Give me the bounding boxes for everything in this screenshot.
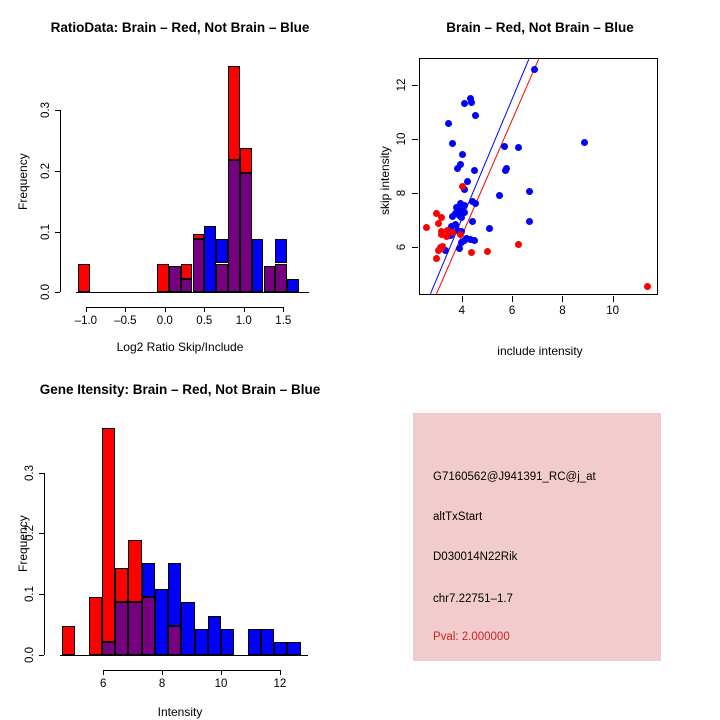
panel-intensity-scatter: Brain – Red, Not Brain – Blue 4681068101…	[360, 0, 720, 360]
regression-line-blue_fit	[429, 59, 529, 295]
histogram-bar	[195, 629, 208, 655]
scatter-point	[445, 120, 452, 127]
panel-gene-intensity-histogram: Gene Itensity: Brain – Red, Not Brain – …	[0, 360, 360, 720]
scatter-point	[472, 200, 479, 207]
x-axis-tick	[103, 670, 104, 675]
histogram-bar	[62, 626, 75, 655]
y-axis-tick	[55, 171, 60, 172]
histogram-bar-overlap	[128, 602, 141, 655]
scatter-point	[484, 248, 491, 255]
x-axis-tick	[86, 307, 87, 312]
histogram-bar	[204, 226, 216, 292]
histogram-bar	[240, 148, 252, 173]
y-axis-tick	[39, 655, 44, 656]
histogram-bar	[221, 629, 234, 655]
histogram-bar	[142, 563, 155, 597]
histogram-baseline	[60, 655, 308, 656]
histogram-bar-overlap	[142, 597, 155, 655]
x-axis-tick	[283, 307, 284, 312]
y-axis-tick-label: 12	[396, 76, 408, 94]
histogram-bar	[181, 264, 193, 279]
histogram-bar	[78, 264, 90, 292]
histogram-bar-overlap	[264, 266, 276, 292]
histogram-bar	[287, 642, 300, 655]
scatter-plot-area: 46810681012	[360, 0, 720, 360]
x-axis-tick-label: 8	[537, 305, 587, 317]
y-axis-tick-label: 6	[396, 238, 408, 256]
scatter-point	[644, 283, 651, 290]
y-axis-tick	[55, 292, 60, 293]
y-axis-tick	[55, 110, 60, 111]
y-axis-tick	[39, 533, 44, 534]
histogram-bar	[155, 589, 168, 655]
ratio-histogram-ylabel: Frequency	[16, 153, 30, 210]
histogram-bar-overlap	[193, 239, 205, 292]
y-axis-tick	[412, 247, 418, 248]
y-axis-line	[60, 110, 61, 292]
y-axis-tick	[55, 232, 60, 233]
scatter-point	[449, 213, 456, 220]
info-gene-symbol: D030014N22Rik	[433, 551, 517, 563]
x-axis-tick	[512, 296, 513, 302]
scatter-point	[526, 218, 533, 225]
histogram-bar	[208, 616, 221, 656]
gene-histogram-ylabel: Frequency	[16, 515, 30, 572]
scatter-point	[449, 140, 456, 147]
y-axis-tick	[412, 139, 418, 140]
histogram-bar	[157, 264, 169, 292]
info-probe-id: G7160562@J941391_RC@j_at	[433, 471, 596, 483]
scatter-point	[496, 192, 503, 199]
scatter-point	[515, 144, 522, 151]
x-axis-tick	[244, 307, 245, 312]
histogram-bar	[181, 602, 194, 655]
histogram-bar	[275, 239, 287, 263]
scatter-point	[459, 151, 466, 158]
x-axis-tick	[462, 296, 463, 302]
x-axis-tick	[613, 296, 614, 302]
scatter-point	[531, 66, 538, 73]
x-axis-tick-label: 6	[487, 305, 537, 317]
scatter-point	[526, 188, 533, 195]
figure-canvas: RatioData: Brain – Red, Not Brain – Blue…	[0, 0, 720, 720]
scatter-point	[581, 139, 588, 146]
x-axis-tick-label: 12	[255, 678, 305, 690]
x-axis-tick	[125, 307, 126, 312]
histogram-bar-overlap	[240, 173, 252, 292]
x-axis-tick-label: 1.5	[258, 315, 308, 327]
histogram-bar	[89, 597, 102, 655]
histogram-bar-overlap	[115, 602, 128, 655]
scatter-point	[454, 165, 461, 172]
histogram-bar	[261, 629, 274, 655]
x-axis-line	[103, 670, 280, 671]
y-axis-tick	[412, 85, 418, 86]
y-axis-tick	[39, 594, 44, 595]
scatter-plot-box	[419, 58, 658, 295]
x-axis-line	[86, 307, 283, 308]
histogram-bar-overlap	[228, 160, 240, 292]
panel-ratio-histogram: RatioData: Brain – Red, Not Brain – Blue…	[0, 0, 360, 360]
histogram-bar	[287, 279, 299, 292]
scatter-point	[443, 233, 450, 240]
x-axis-tick-label: 8	[137, 678, 187, 690]
x-axis-tick	[162, 670, 163, 675]
scatter-point	[433, 255, 440, 262]
x-axis-tick	[204, 307, 205, 312]
histogram-baseline	[76, 292, 309, 293]
scatter-point	[472, 112, 479, 119]
histogram-bar	[252, 239, 264, 292]
scatter-point	[435, 220, 442, 227]
y-axis-tick-label: 0.3	[24, 465, 36, 481]
scatter-point	[486, 225, 493, 232]
histogram-bar	[228, 66, 240, 160]
x-axis-tick	[165, 307, 166, 312]
histogram-bar	[128, 540, 141, 603]
histogram-bar	[102, 428, 115, 642]
gene-histogram-plot-area: 0.00.10.20.3681012	[0, 360, 360, 720]
histogram-bar	[168, 563, 181, 627]
histogram-bar-overlap	[275, 264, 287, 292]
info-event-type: altTxStart	[433, 511, 482, 523]
x-axis-tick-label: 4	[437, 305, 487, 317]
info-pvalue: Pval: 2.000000	[433, 631, 510, 643]
scatter-point	[468, 99, 475, 106]
scatter-point	[461, 100, 468, 107]
y-axis-tick-label: 0.1	[24, 586, 36, 602]
histogram-bar-overlap	[169, 266, 181, 292]
scatter-point	[456, 245, 463, 252]
histogram-bar	[216, 239, 228, 263]
x-axis-tick	[280, 670, 281, 675]
scatter-xlabel: include intensity	[360, 344, 720, 358]
x-axis-tick-label: 6	[78, 678, 128, 690]
gene-histogram-xlabel: Intensity	[0, 705, 360, 719]
scatter-point	[471, 167, 478, 174]
regression-line-red_fit	[435, 59, 539, 295]
panel-gene-info: G7160562@J941391_RC@j_at altTxStart D030…	[413, 413, 661, 661]
scatter-point	[423, 224, 430, 231]
scatter-point	[468, 249, 475, 256]
scatter-point	[502, 167, 509, 174]
info-locus: chr7.22751–1.7	[433, 593, 513, 605]
scatter-point	[463, 235, 470, 242]
scatter-point	[515, 241, 522, 248]
y-axis-tick-label: 0.2	[40, 163, 52, 179]
histogram-bar	[274, 642, 287, 655]
y-axis-line	[44, 473, 45, 655]
histogram-bar	[115, 568, 128, 602]
y-axis-tick	[39, 473, 44, 474]
scatter-point	[435, 247, 442, 254]
histogram-bar-overlap	[181, 279, 193, 292]
scatter-point	[458, 214, 465, 221]
x-axis-tick-label: 10	[196, 678, 246, 690]
histogram-bar	[248, 629, 261, 655]
y-axis-tick-label: 0.0	[40, 284, 52, 300]
y-axis-tick-label: 10	[396, 130, 408, 148]
y-axis-tick-label: 0.1	[40, 224, 52, 240]
scatter-point	[469, 218, 476, 225]
scatter-point	[501, 143, 508, 150]
ratio-histogram-plot-area: 0.00.10.20.3–1.0–0.50.00.51.01.5	[0, 0, 360, 360]
x-axis-tick	[562, 296, 563, 302]
y-axis-tick-label: 0.0	[24, 647, 36, 663]
x-axis-tick	[221, 670, 222, 675]
histogram-bar-overlap	[216, 264, 228, 292]
ratio-histogram-xlabel: Log2 Ratio Skip/Include	[0, 340, 360, 354]
histogram-bar-overlap	[168, 626, 181, 655]
x-axis-tick-label: 10	[588, 305, 638, 317]
scatter-ylabel: skip intensity	[378, 146, 392, 215]
y-axis-tick-label: 0.3	[40, 102, 52, 118]
y-axis-tick-label: 8	[396, 184, 408, 202]
scatter-point	[457, 231, 464, 238]
histogram-bar-overlap	[102, 642, 115, 655]
y-axis-tick	[412, 193, 418, 194]
